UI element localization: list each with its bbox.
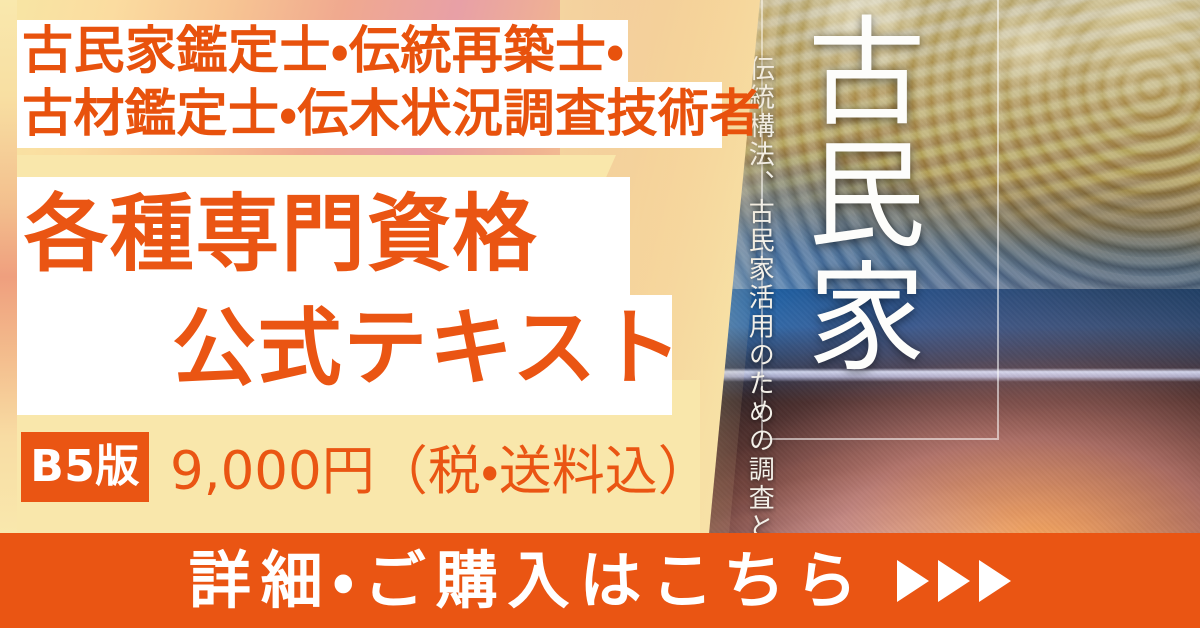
cta-arrow-group: [897, 560, 1011, 602]
cta-bar[interactable]: 詳細・ご購入はこちら: [0, 533, 1200, 628]
cover-title: 古民家: [790, 10, 922, 378]
format-badge: B5版: [21, 432, 149, 502]
headline-line1: 古民家鑑定士・伝統再築士・: [22, 24, 624, 80]
triangle-right-icon: [938, 560, 970, 602]
title-line1: 各種専門資格: [24, 186, 538, 282]
headline-line2: 古材鑑定士・伝木状況調査技術者: [22, 86, 761, 144]
title-line2: 公式テキスト: [172, 298, 684, 398]
format-badge-label: B5版: [30, 445, 139, 489]
price-text: 9,000円（税・送料込）: [170, 432, 711, 502]
cta-label: 詳細・ご購入はこちら: [189, 550, 867, 612]
left-edge-gradient-strip: [0, 0, 17, 533]
triangle-right-icon: [897, 560, 929, 602]
promo-banner: 古民家 伝統構法、古民家活用のための調査と再生の 古民家鑑定士・伝統再築士・ 古…: [0, 0, 1200, 628]
triangle-right-icon: [979, 560, 1011, 602]
